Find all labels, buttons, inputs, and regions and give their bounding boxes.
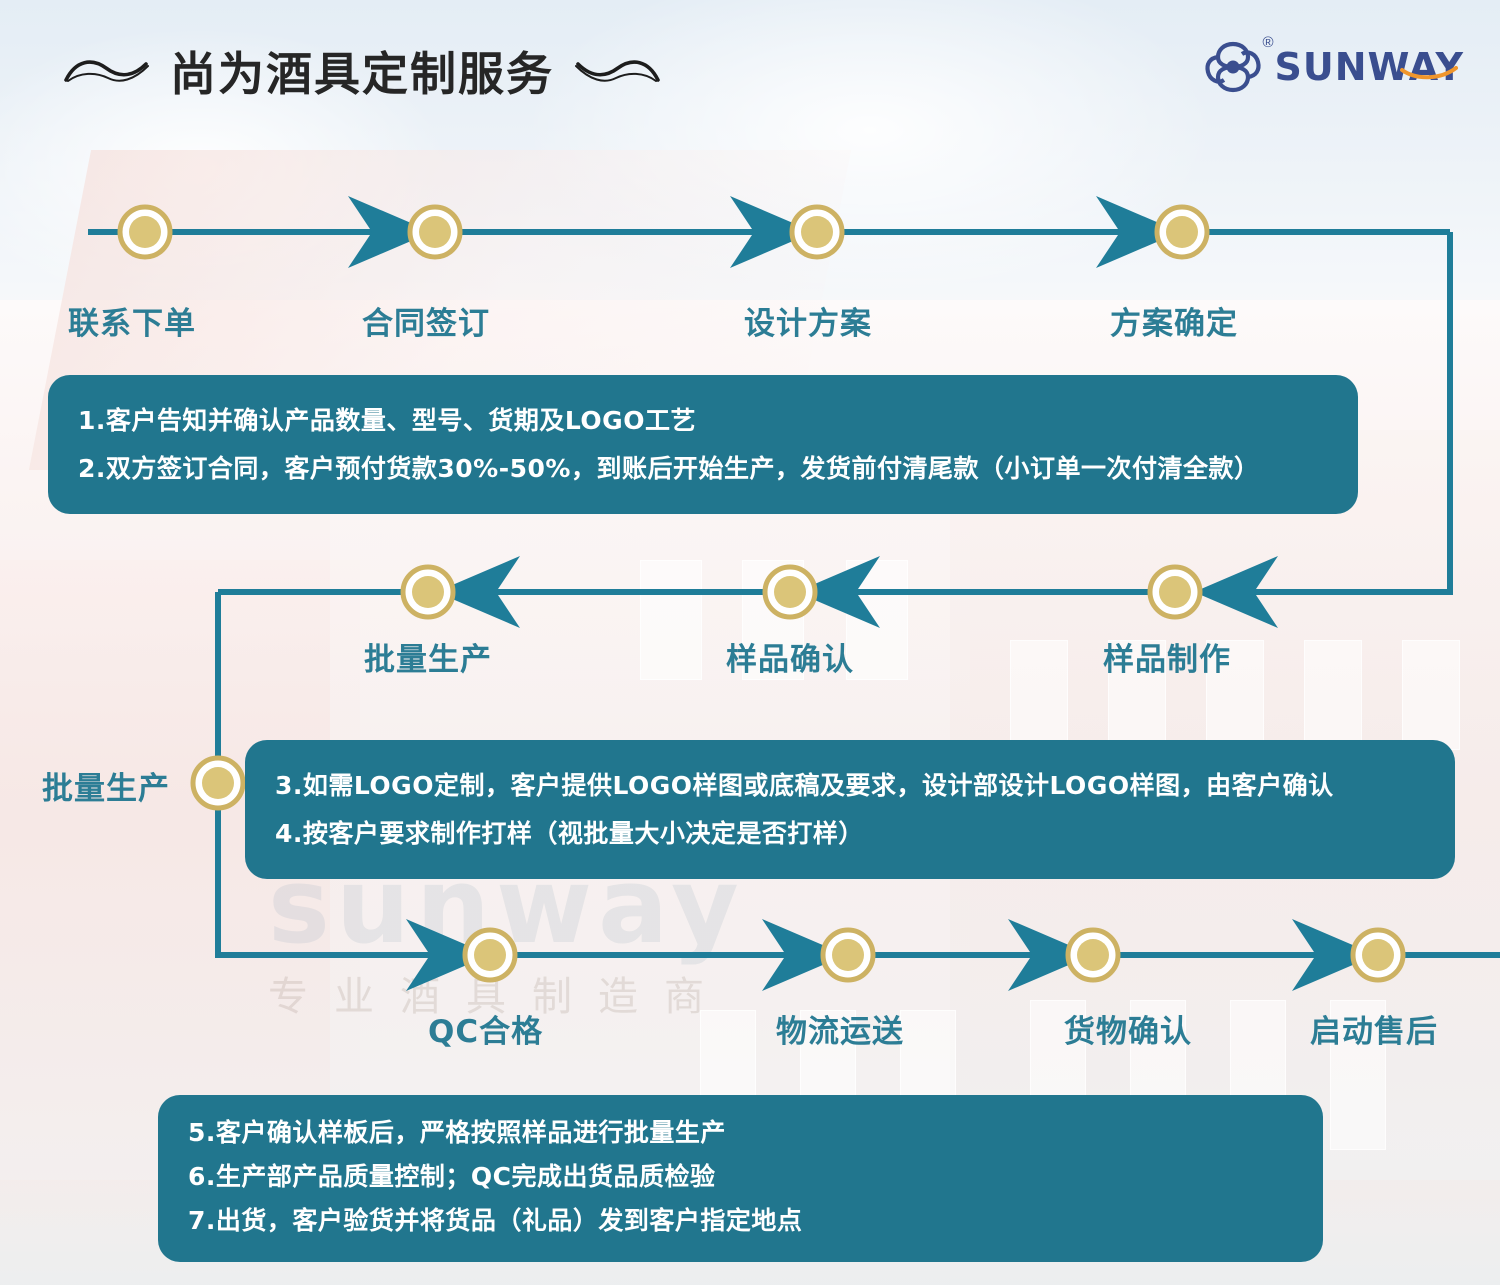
flow-node-label-goods-confirm[interactable]: 货物确认: [1064, 1006, 1192, 1051]
flow-node-marker: [465, 930, 515, 980]
info-line: 4.按客户要求制作打样（视批量大小决定是否打样）: [275, 810, 1425, 858]
info-line: 1.客户告知并确认产品数量、型号、货期及LOGO工艺: [78, 397, 1328, 445]
info-box-steps-1-2: 1.客户告知并确认产品数量、型号、货期及LOGO工艺 2.双方签订合同，客户预付…: [48, 375, 1358, 514]
flow-node-label-sample-confirm[interactable]: 样品确认: [726, 634, 854, 679]
flow-node-marker: [792, 207, 842, 257]
info-line: 7.出货，客户验货并将货品（礼品）发到客户指定地点: [188, 1199, 1293, 1243]
flow-node-label-sample-making[interactable]: 样品制作: [1103, 634, 1231, 679]
flow-node-label-logistics[interactable]: 物流运送: [776, 1006, 904, 1051]
info-line: 3.如需LOGO定制，客户提供LOGO样图或底稿及要求，设计部设计LOGO样图，…: [275, 762, 1425, 810]
info-box-steps-5-7: 5.客户确认样板后，严格按照样品进行批量生产 6.生产部产品质量控制；QC完成出…: [158, 1095, 1323, 1262]
flow-node-label-qc-pass[interactable]: QC合格: [428, 1006, 543, 1051]
flow-node-marker: [403, 567, 453, 617]
flow-node-label-plan-confirmed[interactable]: 方案确定: [1110, 298, 1238, 343]
flow-node-label-after-sales[interactable]: 启动售后: [1310, 1006, 1438, 1051]
flow-node-label-contact-order[interactable]: 联系下单: [68, 298, 196, 343]
flow-node-marker: [1068, 930, 1118, 980]
flow-node-label-mass-production-branch[interactable]: 批量生产: [42, 763, 170, 808]
flow-node-marker: [410, 207, 460, 257]
flowchart-page: sunway 专业酒具制造商 尚为酒具定制服务: [0, 0, 1500, 1285]
info-line: 2.双方签订合同，客户预付货款30%-50%，到账后开始生产，发货前付清尾款（小…: [78, 445, 1328, 493]
flow-node-label-mass-production[interactable]: 批量生产: [364, 634, 492, 679]
flow-node-marker: [823, 930, 873, 980]
flow-node-label-contract-signing[interactable]: 合同签订: [362, 298, 490, 343]
flow-node-marker: [1353, 930, 1403, 980]
info-box-steps-3-4: 3.如需LOGO定制，客户提供LOGO样图或底稿及要求，设计部设计LOGO样图，…: [245, 740, 1455, 879]
flow-node-marker: [1157, 207, 1207, 257]
info-line: 6.生产部产品质量控制；QC完成出货品质检验: [188, 1155, 1293, 1199]
flow-node-marker: [1150, 567, 1200, 617]
flow-node-marker: [193, 758, 243, 808]
flow-node-marker: [120, 207, 170, 257]
flow-node-label-design-plan[interactable]: 设计方案: [744, 298, 872, 343]
flow-node-marker: [765, 567, 815, 617]
info-line: 5.客户确认样板后，严格按照样品进行批量生产: [188, 1111, 1293, 1155]
